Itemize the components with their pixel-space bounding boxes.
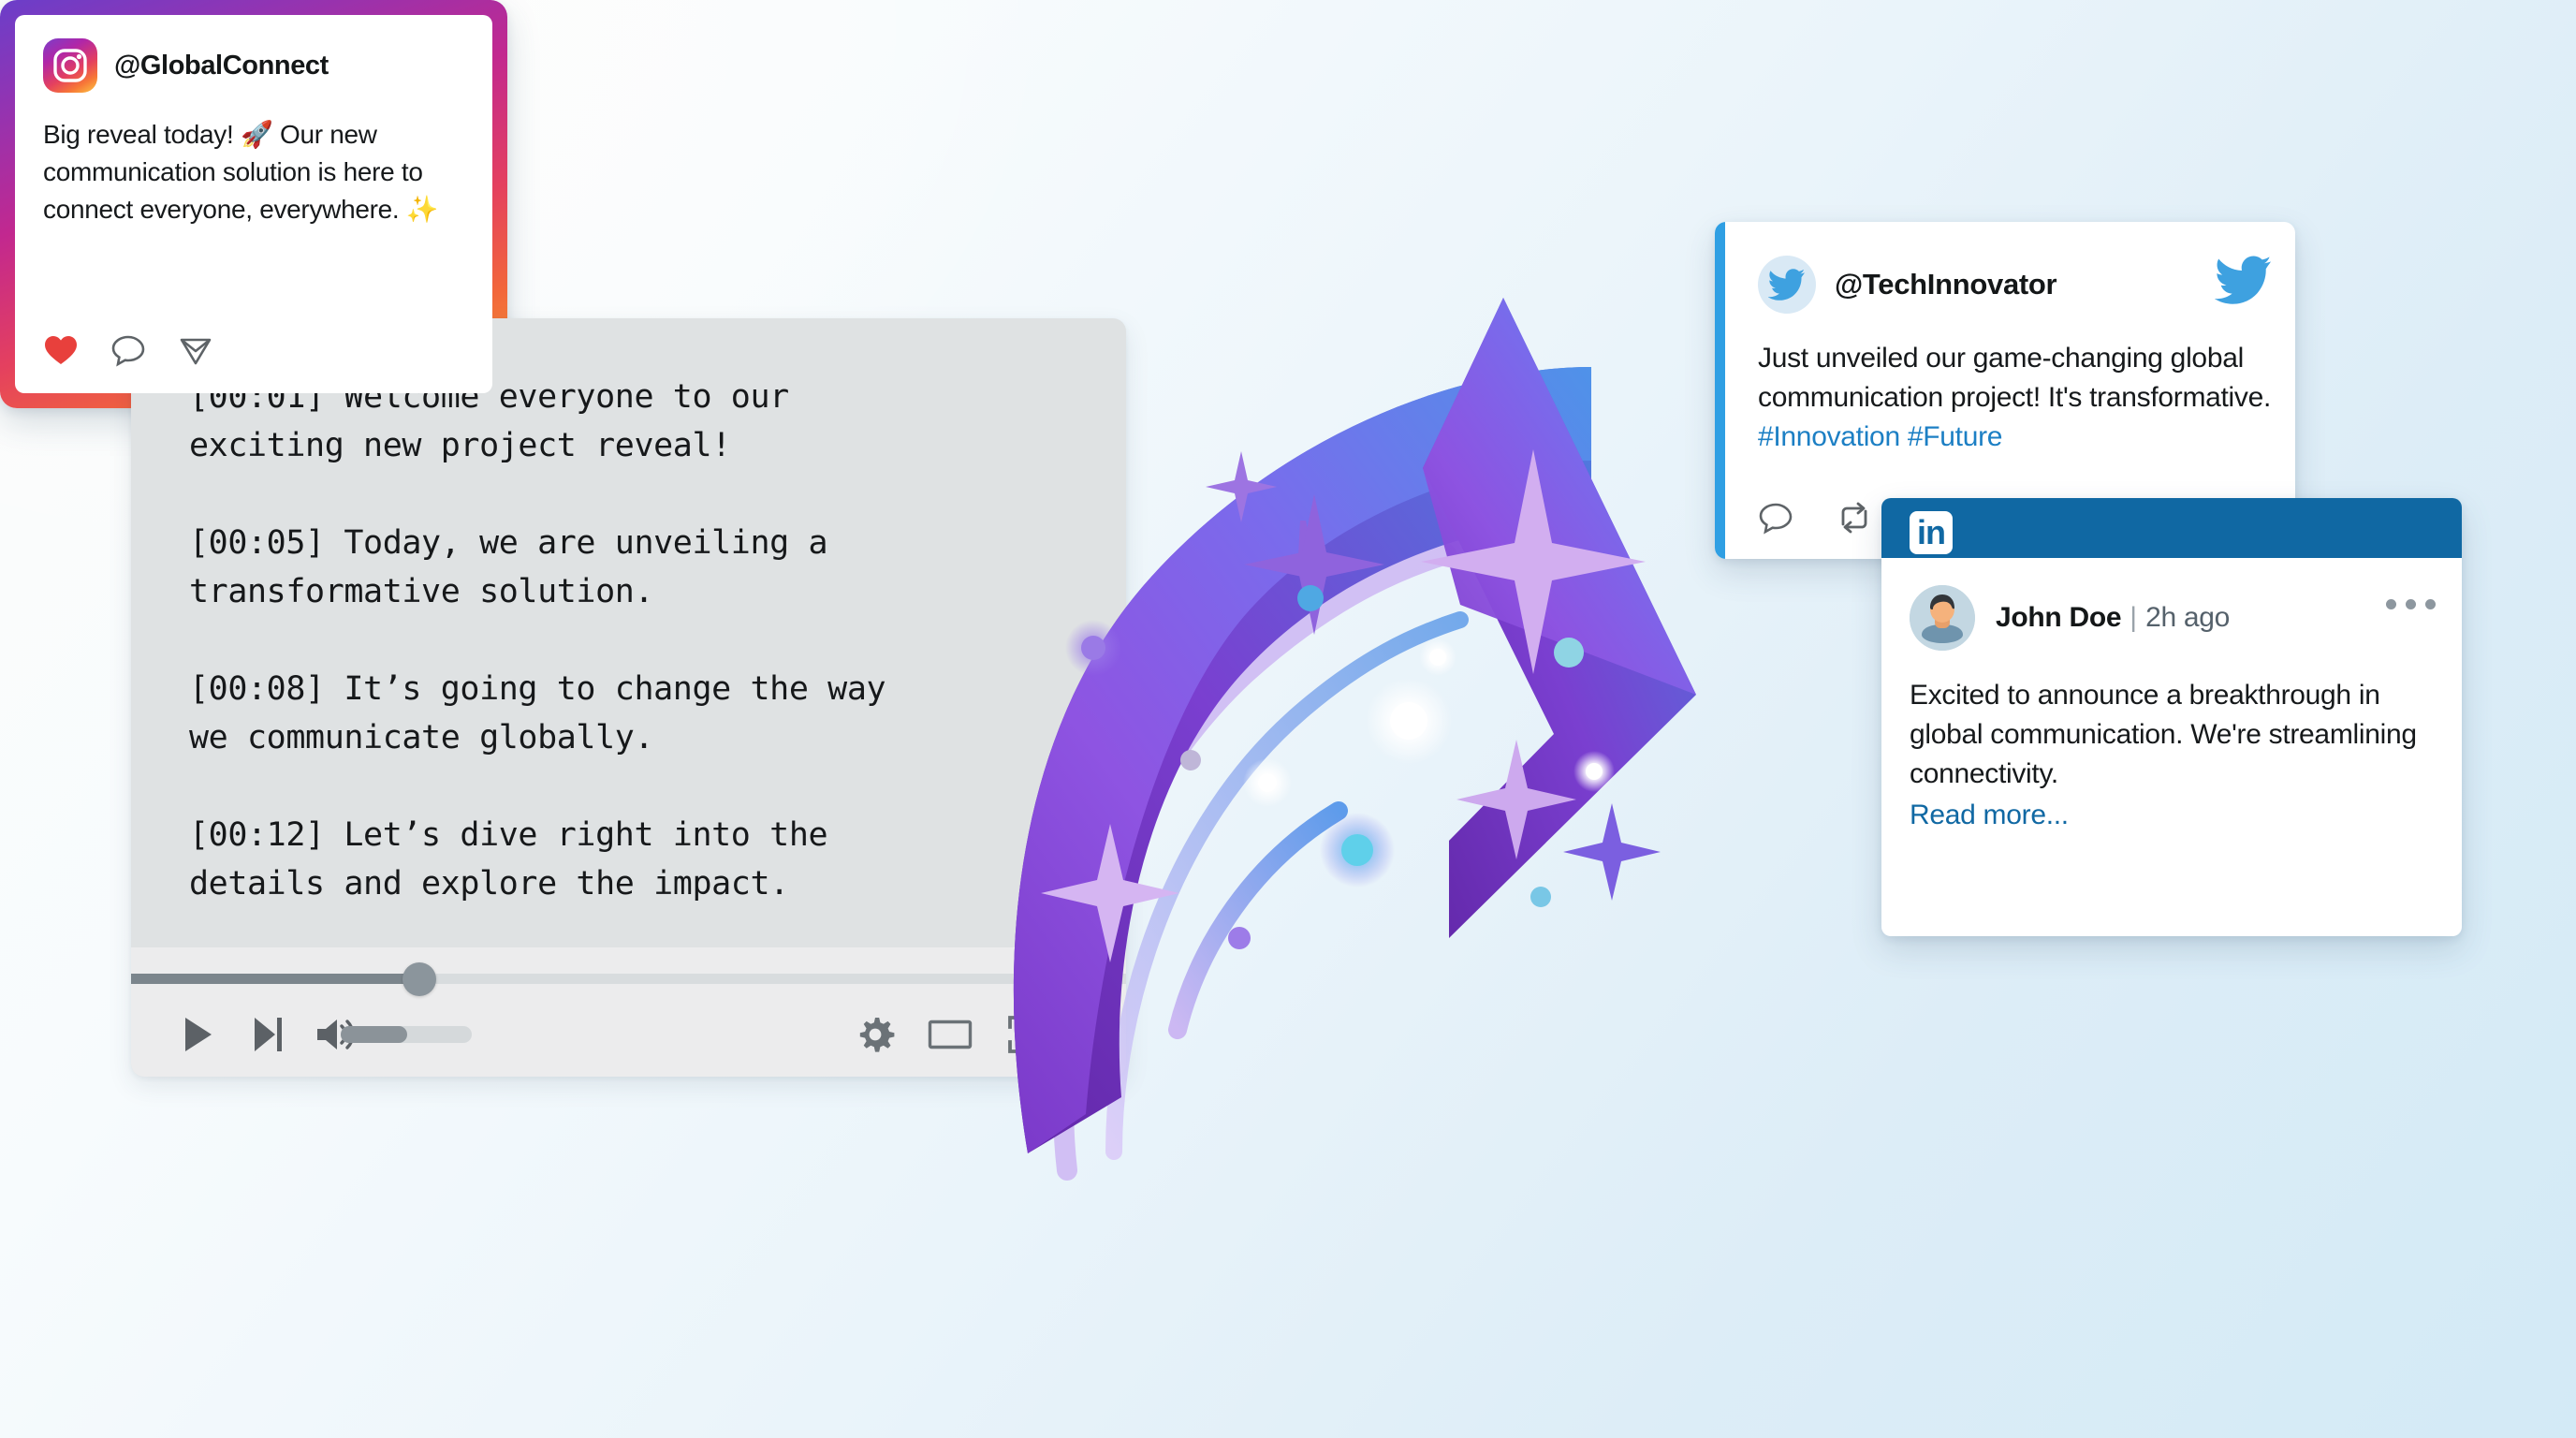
pip-icon — [928, 1018, 973, 1051]
video-player-panel: [00:01] Welcome everyone to our exciting… — [131, 318, 1126, 1077]
twitter-handle: @TechInnovator — [1835, 268, 2056, 301]
twitter-avatar — [1758, 256, 1816, 314]
dot-icon — [2386, 599, 2396, 609]
linkedin-separator: | — [2130, 602, 2137, 634]
twitter-post-body: Just unveiled our game-changing global c… — [1758, 339, 2275, 457]
comment-icon — [1758, 500, 1793, 536]
twitter-bird-icon — [2215, 256, 2273, 304]
twitter-hashtags: #Innovation #Future — [1758, 421, 2002, 452]
gear-icon — [856, 1015, 895, 1054]
next-track-button[interactable] — [243, 1002, 292, 1067]
play-icon — [183, 1016, 214, 1053]
settings-button[interactable] — [849, 1002, 901, 1067]
twitter-post-text: Just unveiled our game-changing global c… — [1758, 343, 2271, 413]
canvas: [00:01] Welcome everyone to our exciting… — [0, 0, 2576, 1438]
play-button[interactable] — [174, 1002, 223, 1067]
reply-button[interactable] — [1758, 500, 1793, 540]
twitter-card-actions — [1758, 500, 1874, 540]
instagram-card-actions — [43, 332, 213, 373]
twitter-bird-icon — [1768, 269, 1806, 301]
twitter-card-header: @TechInnovator — [1758, 250, 2273, 319]
transcript-text: [00:01] Welcome everyone to our exciting… — [131, 318, 1126, 947]
instagram-logo-icon — [43, 38, 97, 93]
seek-bar-progress — [131, 974, 418, 984]
instagram-card-header: @GlobalConnect — [43, 36, 474, 95]
player-control-bar — [131, 947, 1126, 1077]
fullscreen-icon — [1007, 1015, 1046, 1054]
like-button[interactable] — [43, 333, 79, 372]
heart-icon — [43, 333, 79, 367]
instagram-post-card[interactable]: @GlobalConnect Big reveal today! 🚀 Our n… — [0, 0, 507, 408]
twitter-accent-bar — [1715, 222, 1725, 559]
instagram-glyph-icon — [51, 47, 89, 84]
picture-in-picture-button[interactable] — [924, 1002, 976, 1067]
share-button[interactable] — [178, 332, 213, 373]
send-paper-plane-icon — [178, 332, 213, 368]
twitter-logo — [2215, 256, 2273, 309]
linkedin-timestamp: 2h ago — [2145, 602, 2230, 634]
dot-icon — [2406, 599, 2416, 609]
instagram-post-body: Big reveal today! 🚀 Our new communicatio… — [43, 116, 476, 228]
linkedin-post-card[interactable]: in John Doe | 2h ago Excited to announce… — [1881, 498, 2462, 936]
volume-slider[interactable] — [341, 1026, 472, 1043]
volume-slider-fill — [341, 1026, 407, 1043]
comment-button[interactable] — [110, 332, 146, 373]
linkedin-post-text: Excited to announce a breakthrough in gl… — [1910, 680, 2417, 789]
avatar — [1910, 585, 1975, 651]
linkedin-card-header: in — [1881, 498, 2462, 558]
retweet-icon — [1835, 500, 1874, 536]
linkedin-author-row: John Doe | 2h ago — [1910, 584, 2439, 652]
person-avatar-icon — [1910, 585, 1975, 651]
read-more-link[interactable]: Read more... — [1910, 796, 2439, 835]
more-options-button[interactable] — [2386, 599, 2436, 609]
seek-bar[interactable] — [131, 974, 1126, 984]
linkedin-logo-icon: in — [1910, 511, 1953, 554]
linkedin-author-name: John Doe — [1996, 602, 2121, 634]
comment-icon — [110, 332, 146, 368]
retweet-button[interactable] — [1835, 500, 1874, 540]
next-track-icon — [252, 1016, 284, 1053]
seek-bar-thumb[interactable] — [402, 962, 436, 996]
linkedin-post-body: Excited to announce a breakthrough in gl… — [1910, 676, 2439, 835]
fullscreen-button[interactable] — [1001, 1002, 1053, 1067]
instagram-handle: @GlobalConnect — [114, 51, 329, 81]
dot-icon — [2425, 599, 2436, 609]
